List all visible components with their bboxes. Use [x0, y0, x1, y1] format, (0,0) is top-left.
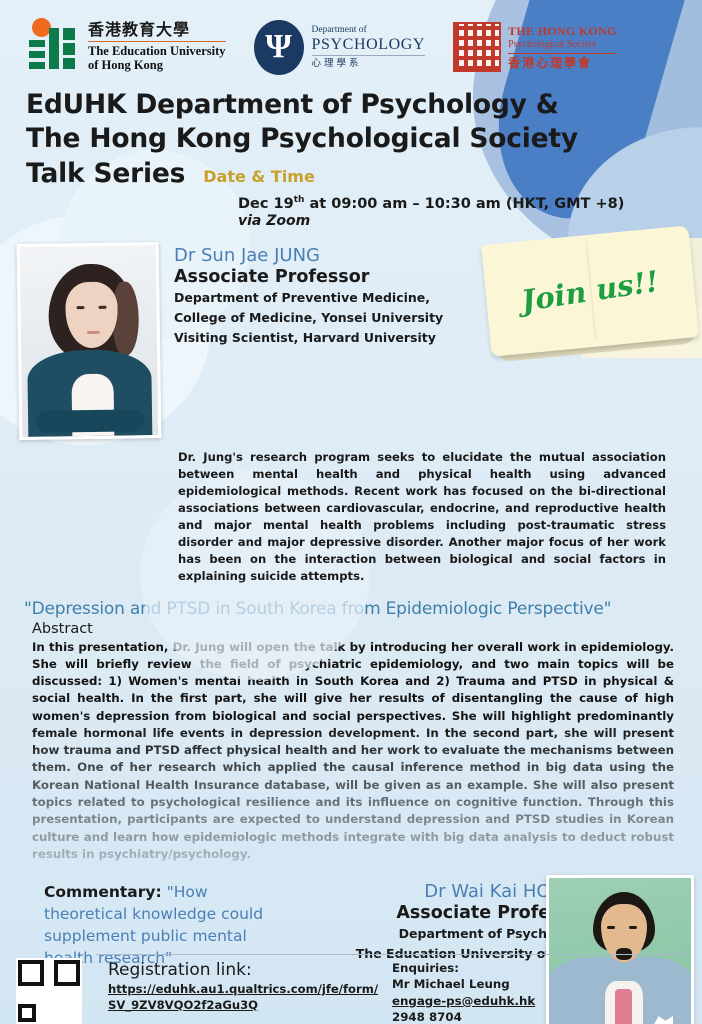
join-us-badge: Join us!!: [481, 225, 699, 356]
psy-main-line: PSYCHOLOGY: [312, 36, 426, 55]
date-time-value: Dec 19th at 09:00 am – 10:30 am (HKT, GM…: [238, 195, 678, 212]
psy-chinese-name: 心理學系: [312, 58, 426, 69]
eduhk-logo: 香港教育大學 The Education University of Hong …: [26, 18, 226, 76]
date-ordinal-suffix: th: [294, 195, 305, 205]
poster-title-line1: EdUHK Department of Psychology &: [26, 88, 678, 122]
hkps-name-line2: Psychological Society: [508, 39, 617, 51]
eduhk-english-name-line1: The Education University: [88, 44, 226, 59]
eduhk-chinese-name: 香港教育大學: [88, 21, 226, 39]
date-suffix: at 09:00 am – 10:30 am (HKT, GMT +8): [304, 196, 624, 212]
eduhk-english-name-line2: of Hong Kong: [88, 58, 226, 73]
enquiries-block: Enquiries: Mr Michael Leung engage-ps@ed…: [382, 950, 690, 1024]
enquiries-contact-name: Mr Michael Leung: [392, 976, 690, 992]
enquiries-email[interactable]: engage-ps@eduhk.hk: [392, 993, 690, 1009]
enquiries-label: Enquiries:: [392, 960, 690, 976]
title-block: EdUHK Department of Psychology & The Hon…: [0, 84, 702, 229]
psychology-department-logo: Ψ Department of PSYCHOLOGY 心理學系: [254, 20, 426, 75]
speaker-one-photo: [17, 242, 162, 440]
date-time-label: Date & Time: [203, 167, 315, 186]
commentary-label: Commentary:: [44, 883, 162, 901]
footer-divider: [96, 954, 688, 955]
logo-bar: 香港教育大學 The Education University of Hong …: [0, 0, 702, 84]
date-prefix: Dec 19: [238, 196, 294, 212]
hkps-chinese-name: 香港心理學會: [508, 56, 617, 70]
hkps-logo: THE HONG KONG Psychological Society 香港心理…: [453, 22, 617, 72]
footer: Registration link: https://eduhk.au1.qua…: [0, 946, 702, 1024]
hkps-name-line1: THE HONG KONG: [508, 24, 617, 38]
eduhk-rule: [88, 41, 226, 42]
enquiries-phone: 2948 8704: [392, 1009, 690, 1024]
speaker-one-bio: Dr. Jung's research program seeks to elu…: [178, 449, 666, 584]
registration-block: Registration link: https://eduhk.au1.qua…: [82, 950, 382, 1013]
talk-title: "Depression and PTSD in South Korea from…: [24, 599, 688, 619]
platform-label: via Zoom: [238, 213, 678, 229]
psy-dept-line: Department of: [312, 25, 426, 36]
psi-emblem-icon: Ψ: [254, 20, 304, 75]
psy-rule: [312, 55, 426, 56]
registration-link[interactable]: https://eduhk.au1.qualtrics.com/jfe/form…: [108, 982, 382, 1013]
eduhk-emblem-icon: [26, 18, 78, 76]
abstract-heading: Abstract: [32, 621, 702, 637]
poster-title-line2: The Hong Kong Psychological Society: [26, 122, 678, 156]
hkps-seal-icon: [453, 22, 501, 72]
registration-qr-code-icon[interactable]: [16, 958, 82, 1024]
psi-glyph: Ψ: [254, 20, 304, 75]
poster-title-line3: Talk Series: [26, 157, 185, 191]
hkps-rule: [508, 53, 617, 54]
poster-canvas: 香港教育大學 The Education University of Hong …: [0, 0, 702, 1024]
speaker-one-section: Join us!! Dr Sun Jae JUNG Associate Prof…: [0, 243, 702, 584]
abstract-text: In this presentation, Dr. Jung will open…: [32, 639, 674, 864]
registration-heading: Registration link:: [108, 960, 382, 980]
